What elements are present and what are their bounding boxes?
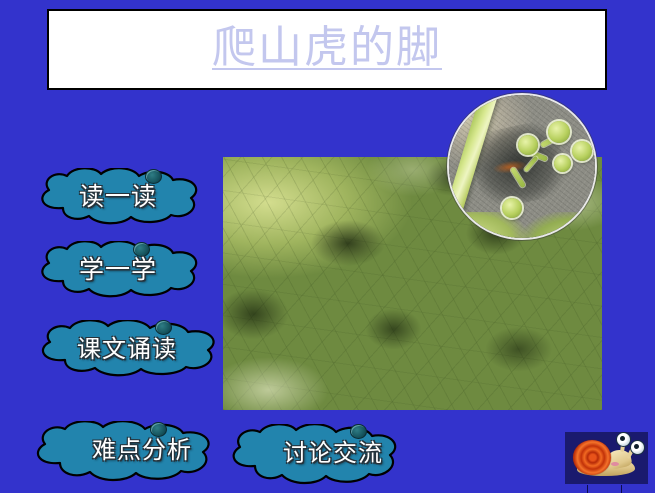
- cloud-shape: [33, 241, 203, 299]
- nav-cloud-discussion[interactable]: 讨论交流: [224, 424, 402, 486]
- inset-tendril-pad: [572, 141, 592, 161]
- nav-cloud-key-points[interactable]: 难点分析: [28, 421, 216, 483]
- presentation-slide: 爬山虎的脚 读一读 学一学: [0, 0, 655, 493]
- cloud-badge-icon: [155, 320, 172, 335]
- snail-eye: [616, 432, 631, 447]
- snail-shell: [573, 440, 611, 475]
- snail-eye: [630, 440, 645, 455]
- bottom-strip-segment: [565, 485, 588, 493]
- cloud-shape: [33, 168, 203, 226]
- cloud-shape: [33, 320, 221, 378]
- cloud-badge-icon: [350, 424, 367, 439]
- bottom-strip-segment: [622, 485, 655, 493]
- cloud-shape: [28, 421, 216, 483]
- cloud-badge-icon: [145, 169, 162, 184]
- nav-cloud-study[interactable]: 学一学: [33, 241, 203, 299]
- inset-leaf-edge: [447, 212, 597, 240]
- bottom-strip-segment: [588, 485, 622, 493]
- nav-cloud-read[interactable]: 读一读: [33, 168, 203, 226]
- title-box: 爬山虎的脚: [47, 9, 607, 90]
- page-title: 爬山虎的脚: [212, 26, 442, 74]
- ivy-tendril-closeup-photo: [447, 93, 597, 240]
- nav-cloud-recitation[interactable]: 课文诵读: [33, 320, 221, 378]
- cloud-badge-icon: [133, 242, 150, 257]
- inset-tendril-pad: [548, 121, 570, 143]
- bottom-strip: [565, 485, 655, 493]
- cloud-shape: [224, 424, 402, 486]
- cloud-badge-icon: [150, 422, 167, 437]
- inset-tendril-pad: [518, 135, 538, 155]
- inset-tendril-pad: [502, 198, 522, 218]
- snail-icon[interactable]: [565, 432, 648, 484]
- snail-mouth: [611, 462, 619, 466]
